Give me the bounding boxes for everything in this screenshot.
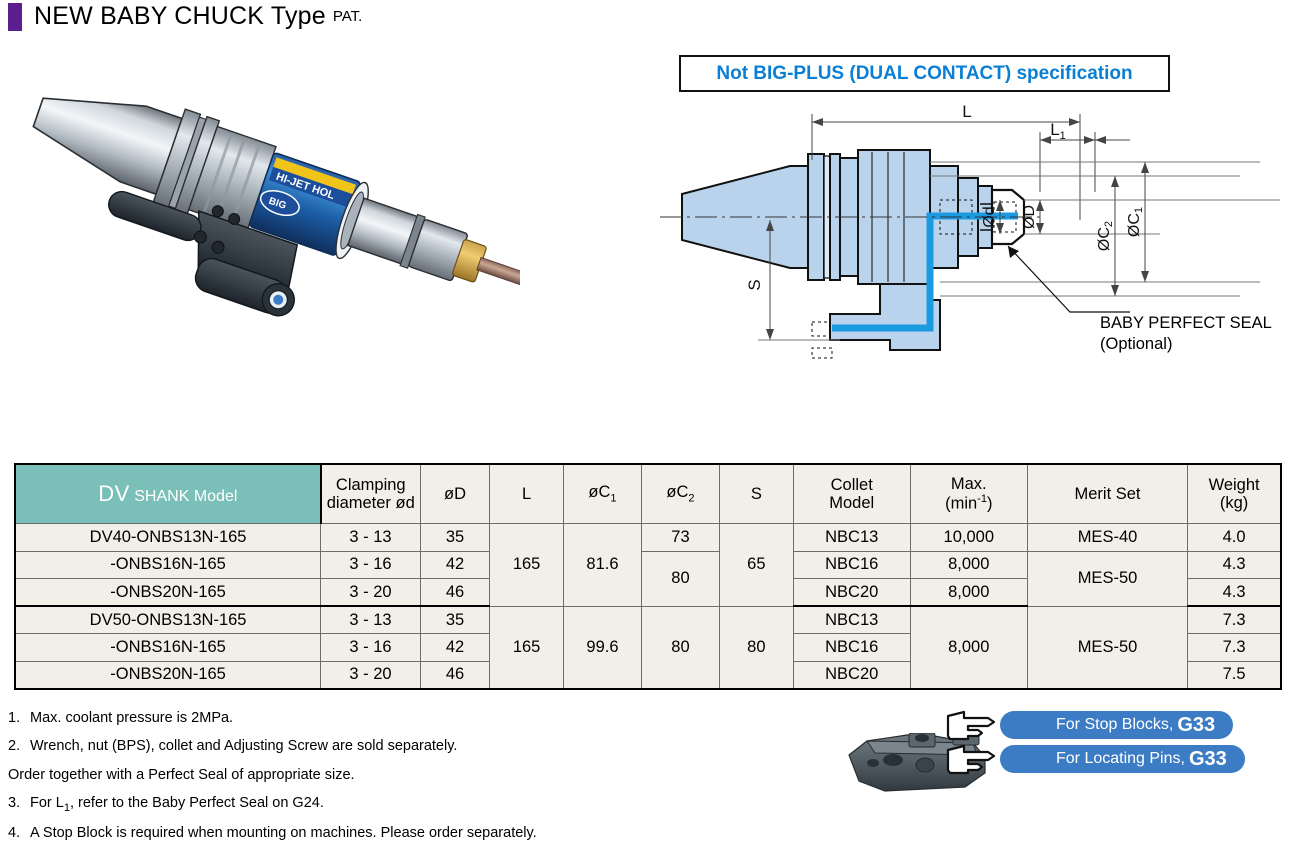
- page-title: NEW BABY CHUCK Type PAT.: [8, 2, 362, 31]
- col-header-merit-set: Merit Set: [1027, 464, 1187, 524]
- cell-clamping: 3 - 20: [321, 661, 421, 689]
- footnote-3-text: For L1, refer to the Baby Perfect Seal o…: [30, 789, 324, 819]
- col-header-weight: Weight (kg): [1188, 464, 1281, 524]
- cell-L: 165: [490, 524, 564, 607]
- cell-oC1: 81.6: [563, 524, 641, 607]
- cell-oD: 42: [420, 551, 489, 579]
- pointing-hand-icon: [942, 740, 1000, 778]
- cell-weight: 7.3: [1188, 606, 1281, 634]
- cell-oD: 35: [420, 524, 489, 552]
- cell-oD: 42: [420, 634, 489, 662]
- col-header-max-line2: (min-1): [911, 493, 1027, 513]
- patent-mark: PAT.: [333, 8, 362, 25]
- cell-oD: 35: [420, 606, 489, 634]
- col-header-max-paren: ): [987, 495, 993, 513]
- footnotes: 1. Max. coolant pressure is 2MPa. 2. Wre…: [8, 704, 537, 847]
- cell-model: -ONBS20N-165: [15, 579, 321, 607]
- cell-collet: NBC16: [793, 551, 910, 579]
- col-header-max-line1: Max.: [911, 475, 1027, 493]
- dim-label-L1: L1: [1050, 120, 1066, 142]
- cell-L: 165: [490, 606, 564, 689]
- cell-max: 8,000: [910, 606, 1027, 689]
- cell-oD: 46: [420, 661, 489, 689]
- col-header-L: L: [490, 464, 564, 524]
- table-header-row: DV SHANK Model Clamping diameter ød øD L…: [15, 464, 1281, 524]
- seal-label-text: BABY PERFECT SEAL: [1100, 313, 1272, 334]
- cell-oC1: 99.6: [563, 606, 641, 689]
- cell-merit: MES-50: [1027, 606, 1187, 689]
- cell-clamping: 3 - 16: [321, 551, 421, 579]
- cell-clamping: 3 - 20: [321, 579, 421, 607]
- badge-locating-pins-label: For Locating Pins,: [1056, 750, 1185, 768]
- cell-collet: NBC13: [793, 524, 910, 552]
- dim-label-oD: ØD: [1021, 205, 1038, 229]
- cell-clamping: 3 - 16: [321, 634, 421, 662]
- col-header-S: S: [720, 464, 794, 524]
- footnote-2-number: 2.: [8, 732, 30, 760]
- badge-locating-pins[interactable]: For Locating Pins, G33: [1000, 745, 1245, 773]
- cell-weight: 4.3: [1188, 579, 1281, 607]
- table-row: DV40-ONBS13N-165 3 - 13 35 165 81.6 73 6…: [15, 524, 1281, 552]
- col-header-weight-line1: Weight: [1188, 476, 1280, 494]
- footnote-3-text-b: , refer to the Baby Perfect Seal on G24.: [70, 795, 324, 811]
- pointing-hand-icon: [942, 706, 1000, 744]
- cell-oC2: 80: [641, 606, 719, 689]
- product-photo: HI-JET HOL BIG: [0, 80, 520, 380]
- dim-label-oC1: ØC1: [1126, 207, 1145, 237]
- footnote-3: 3. For L1, refer to the Baby Perfect Sea…: [8, 789, 537, 819]
- title-accent-bar: [8, 3, 22, 31]
- col-header-model-rest: SHANK Model: [130, 488, 238, 505]
- footnote-2-text: Wrench, nut (BPS), collet and Adjusting …: [30, 732, 457, 760]
- dim-label-od: Ød: [981, 206, 998, 227]
- badge-stop-blocks-label: For Stop Blocks,: [1056, 716, 1173, 734]
- col-header-clamping-line2: diameter ød: [322, 494, 420, 512]
- cell-model: DV40-ONBS13N-165: [15, 524, 321, 552]
- col-header-clamping-diameter: Clamping diameter ød: [321, 464, 421, 524]
- cell-oD: 46: [420, 579, 489, 607]
- footnote-2-continuation: Order together with a Perfect Seal of ap…: [8, 761, 537, 789]
- cell-collet: NBC16: [793, 634, 910, 662]
- badge-locating-pins-page: G33: [1189, 748, 1227, 771]
- col-header-max-unit: (min: [945, 495, 977, 513]
- seal-optional-text: (Optional): [1100, 334, 1272, 355]
- col-header-max-rpm: Max. (min-1): [910, 464, 1027, 524]
- specification-table: DV SHANK Model Clamping diameter ød øD L…: [14, 463, 1282, 690]
- footnote-4-number: 4.: [8, 819, 30, 847]
- footnote-4-text: A Stop Block is required when mounting o…: [30, 819, 537, 847]
- catalog-page: NEW BABY CHUCK Type PAT.: [0, 0, 1297, 817]
- cell-model: -ONBS20N-165: [15, 661, 321, 689]
- dim-label-S: S: [745, 279, 764, 290]
- cell-model: -ONBS16N-165: [15, 551, 321, 579]
- cell-weight: 7.3: [1188, 634, 1281, 662]
- footnote-3-text-a: For L: [30, 795, 64, 811]
- col-header-max-exp: -1: [977, 493, 987, 505]
- baby-perfect-seal-annotation: BABY PERFECT SEAL (Optional): [1100, 313, 1272, 355]
- footnote-3-number: 3.: [8, 789, 30, 819]
- col-header-oC2-base: øC: [666, 483, 688, 501]
- cell-collet: NBC13: [793, 606, 910, 634]
- col-header-oC2: øC2: [641, 464, 719, 524]
- cell-max: 10,000: [910, 524, 1027, 552]
- cell-merit: MES-40: [1027, 524, 1187, 552]
- footnote-1: 1. Max. coolant pressure is 2MPa.: [8, 704, 537, 732]
- cell-model: DV50-ONBS13N-165: [15, 606, 321, 634]
- cell-max: 8,000: [910, 551, 1027, 579]
- cell-S: 65: [720, 524, 794, 607]
- badge-stop-blocks-page: G33: [1177, 714, 1215, 737]
- dim-label-oC2: ØC2: [1096, 221, 1115, 251]
- col-header-clamping-line1: Clamping: [322, 476, 420, 494]
- col-header-oC1: øC1: [563, 464, 641, 524]
- col-header-model: DV SHANK Model: [15, 464, 321, 524]
- cell-clamping: 3 - 13: [321, 524, 421, 552]
- col-header-oC1-sub: 1: [610, 492, 616, 504]
- cell-collet: NBC20: [793, 579, 910, 607]
- col-header-oC2-sub: 2: [688, 492, 694, 504]
- cell-model: -ONBS16N-165: [15, 634, 321, 662]
- cell-weight: 4.3: [1188, 551, 1281, 579]
- cell-merit: MES-50: [1027, 551, 1187, 606]
- big-plus-callout: Not BIG-PLUS (DUAL CONTACT) specificatio…: [679, 55, 1170, 92]
- specification-table-container: DV SHANK Model Clamping diameter ød øD L…: [14, 463, 1282, 690]
- cell-max: 8,000: [910, 579, 1027, 607]
- big-plus-callout-text: Not BIG-PLUS (DUAL CONTACT) specificatio…: [716, 63, 1132, 85]
- col-header-weight-line2: (kg): [1188, 494, 1280, 512]
- col-header-oD: øD: [420, 464, 489, 524]
- table-row: DV50-ONBS13N-165 3 - 13 35 165 99.6 80 8…: [15, 606, 1281, 634]
- footnote-1-number: 1.: [8, 704, 30, 732]
- col-header-collet-line1: Collet: [794, 476, 910, 494]
- col-header-collet-line2: Model: [794, 494, 910, 512]
- cell-S: 80: [720, 606, 794, 689]
- cell-weight: 4.0: [1188, 524, 1281, 552]
- col-header-collet-model: Collet Model: [793, 464, 910, 524]
- footnote-2: 2. Wrench, nut (BPS), collet and Adjusti…: [8, 732, 537, 789]
- col-header-model-dv: DV: [98, 481, 130, 506]
- cell-clamping: 3 - 13: [321, 606, 421, 634]
- cell-oC2: 73: [641, 524, 719, 552]
- dim-label-L: L: [962, 102, 971, 121]
- col-header-oC1-base: øC: [588, 483, 610, 501]
- cell-oC2: 80: [641, 551, 719, 606]
- cell-weight: 7.5: [1188, 661, 1281, 689]
- cell-collet: NBC20: [793, 661, 910, 689]
- footnote-1-text: Max. coolant pressure is 2MPa.: [30, 704, 233, 732]
- badge-stop-blocks[interactable]: For Stop Blocks, G33: [1000, 711, 1233, 739]
- page-title-text: NEW BABY CHUCK Type: [34, 2, 326, 31]
- table-row: -ONBS16N-165 3 - 16 42 80 NBC16 8,000 ME…: [15, 551, 1281, 579]
- footnote-4: 4. A Stop Block is required when mountin…: [8, 819, 537, 847]
